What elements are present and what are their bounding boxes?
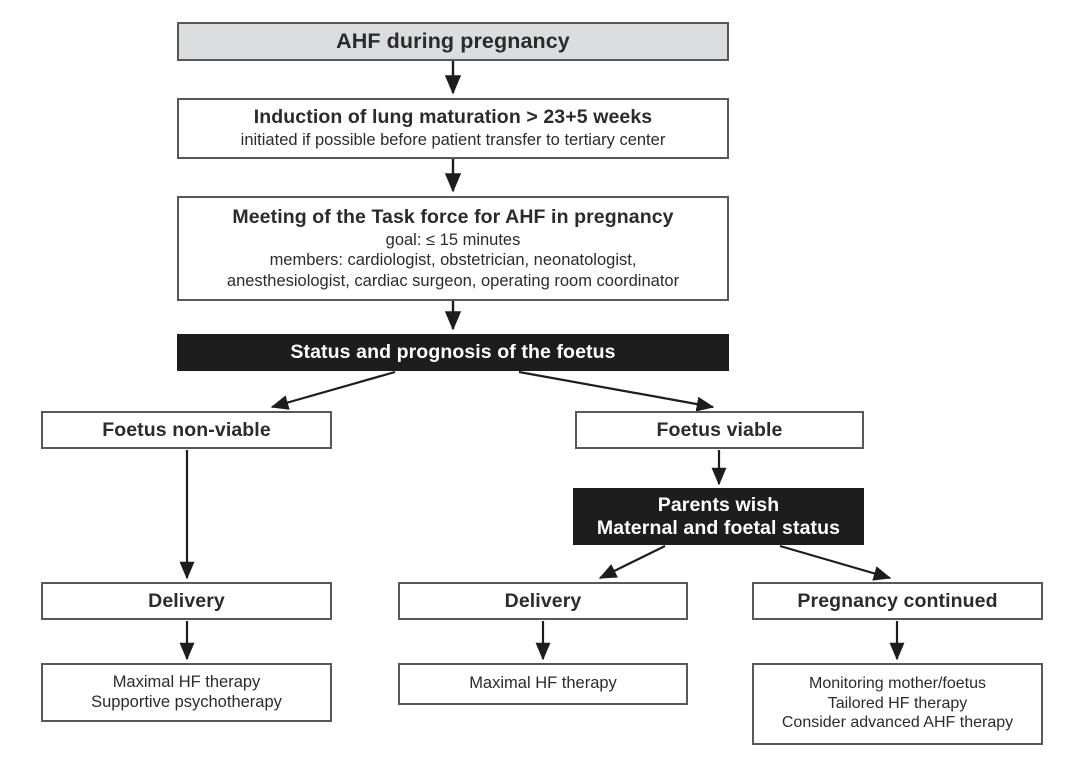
node-title-line1: Parents wish [658,494,780,517]
node-line-2: Supportive psychotherapy [91,693,282,712]
node-line-3: Consider advanced AHF therapy [782,714,1013,733]
edge-status-to-foetus-viable [519,372,713,407]
node-therapy-right[interactable]: Monitoring mother/foetus Tailored HF the… [752,663,1043,745]
node-title: Delivery [505,590,582,613]
node-detail: initiated if possible before patient tra… [241,131,666,150]
node-foetus-non-viable[interactable]: Foetus non-viable [41,411,332,449]
node-line-1: Monitoring mother/foetus [809,675,986,694]
edge-parents-wish-to-pregnancy-continued [780,546,890,578]
node-title: Delivery [148,590,225,613]
node-title: Foetus viable [657,419,783,442]
node-delivery-left[interactable]: Delivery [41,582,332,620]
node-line-1: Maximal HF therapy [113,673,261,692]
node-line-1: Maximal HF therapy [469,674,617,693]
node-status-prognosis-foetus[interactable]: Status and prognosis of the foetus [177,334,729,371]
node-detail-goal: goal: ≤ 15 minutes [386,231,521,250]
node-title-line2: Maternal and foetal status [597,517,840,540]
node-therapy-middle[interactable]: Maximal HF therapy [398,663,688,705]
node-title: Foetus non-viable [102,419,271,442]
node-therapy-left[interactable]: Maximal HF therapy Supportive psychother… [41,663,332,722]
node-title: Status and prognosis of the foetus [290,341,615,364]
node-pregnancy-continued[interactable]: Pregnancy continued [752,582,1043,620]
node-title: Pregnancy continued [797,590,997,613]
edge-parents-wish-to-delivery-middle [600,546,665,578]
node-induction-lung-maturation[interactable]: Induction of lung maturation > 23+5 week… [177,98,729,159]
edge-status-to-foetus-non-viable [272,372,395,407]
node-task-force-meeting[interactable]: Meeting of the Task force for AHF in pre… [177,196,729,301]
node-foetus-viable[interactable]: Foetus viable [575,411,864,449]
node-title: Meeting of the Task force for AHF in pre… [232,206,673,229]
node-ahf-during-pregnancy[interactable]: AHF during pregnancy [177,22,729,61]
node-title: AHF during pregnancy [336,29,570,54]
node-delivery-middle[interactable]: Delivery [398,582,688,620]
node-title: Induction of lung maturation > 23+5 week… [254,106,653,129]
node-line-2: Tailored HF therapy [828,695,968,714]
node-detail-members-line1: members: cardiologist, obstetrician, neo… [270,251,637,270]
node-parents-wish[interactable]: Parents wish Maternal and foetal status [573,488,864,545]
flowchart-canvas: AHF during pregnancy Induction of lung m… [0,0,1080,758]
node-detail-members-line2: anesthesiologist, cardiac surgeon, opera… [227,272,679,291]
